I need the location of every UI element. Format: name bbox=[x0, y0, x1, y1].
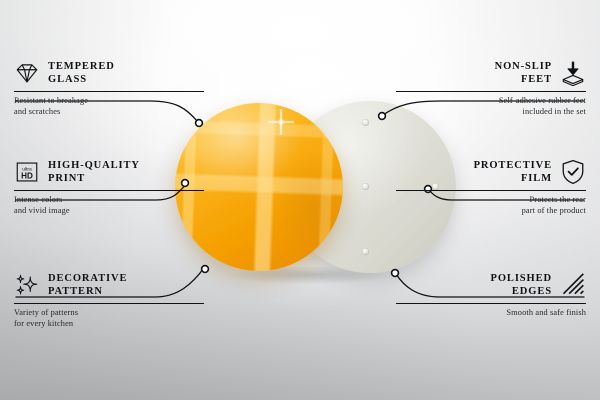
feature-polished-edges[interactable]: POLISHED EDGES Smooth and safe finish bbox=[396, 272, 586, 319]
feature-desc-line2: and scratches bbox=[14, 107, 204, 118]
feature-header: PROTECTIVE FILM bbox=[396, 159, 586, 185]
feature-title: PROTECTIVE FILM bbox=[474, 159, 552, 185]
feature-desc-line2: for every kitchen bbox=[14, 319, 204, 330]
feature-desc-line1: Resistant to breakage bbox=[14, 96, 204, 107]
feature-divider bbox=[396, 303, 586, 304]
feature-title: DECORATIVE PATTERN bbox=[48, 272, 127, 298]
feature-high-quality-print[interactable]: ultra HD HIGH-QUALITY PRINT Intense colo… bbox=[14, 159, 204, 216]
feature-desc-line1: Self-adhesive rubber feet bbox=[396, 96, 586, 107]
shield-check-icon bbox=[560, 159, 586, 185]
feature-title: NON-SLIP FEET bbox=[495, 60, 552, 86]
feature-divider bbox=[14, 190, 204, 191]
feature-divider bbox=[396, 91, 586, 92]
svg-text:HD: HD bbox=[21, 172, 33, 181]
feature-header: ultra HD HIGH-QUALITY PRINT bbox=[14, 159, 204, 185]
feature-divider bbox=[14, 303, 204, 304]
sparkle-icon bbox=[14, 272, 40, 298]
diamond-icon bbox=[14, 60, 40, 86]
rubber-foot bbox=[362, 183, 369, 190]
feature-header: TEMPERED GLASS bbox=[14, 60, 204, 86]
feature-desc-line1: Protects the rear bbox=[396, 195, 586, 206]
press-down-foot-icon bbox=[560, 60, 586, 86]
feature-desc-line2: part of the product bbox=[396, 206, 586, 217]
connector-dot-left-1 bbox=[196, 120, 203, 127]
feature-header: POLISHED EDGES bbox=[396, 272, 586, 298]
feature-header: NON-SLIP FEET bbox=[396, 60, 586, 86]
rubber-foot bbox=[362, 248, 369, 255]
feature-title: HIGH-QUALITY PRINT bbox=[48, 159, 140, 185]
connector-dot-right-1 bbox=[379, 113, 386, 120]
feature-decorative-pattern[interactable]: DECORATIVE PATTERN Variety of patterns f… bbox=[14, 272, 204, 329]
feature-desc-line1: Smooth and safe finish bbox=[396, 308, 586, 319]
feature-title: POLISHED EDGES bbox=[491, 272, 552, 298]
ultra-hd-icon: ultra HD bbox=[14, 159, 40, 185]
feature-title: TEMPERED GLASS bbox=[48, 60, 115, 86]
feature-divider bbox=[396, 190, 586, 191]
rubber-foot bbox=[432, 183, 439, 190]
feature-desc-line1: Intense colors bbox=[14, 195, 204, 206]
infographic-stage: TEMPERED GLASS Resistant to breakage and… bbox=[0, 0, 600, 400]
feature-desc-line2: included in the set bbox=[396, 107, 586, 118]
feature-desc-line2: and vivid image bbox=[14, 206, 204, 217]
feature-non-slip-feet[interactable]: NON-SLIP FEET Self-adhesive rubber feet … bbox=[396, 60, 586, 117]
feature-tempered-glass[interactable]: TEMPERED GLASS Resistant to breakage and… bbox=[14, 60, 204, 117]
feature-divider bbox=[14, 91, 204, 92]
feature-protective-film[interactable]: PROTECTIVE FILM Protects the rear part o… bbox=[396, 159, 586, 216]
polished-edge-icon bbox=[560, 272, 586, 298]
feature-header: DECORATIVE PATTERN bbox=[14, 272, 204, 298]
feature-desc-line1: Variety of patterns bbox=[14, 308, 204, 319]
rubber-foot bbox=[362, 119, 369, 126]
